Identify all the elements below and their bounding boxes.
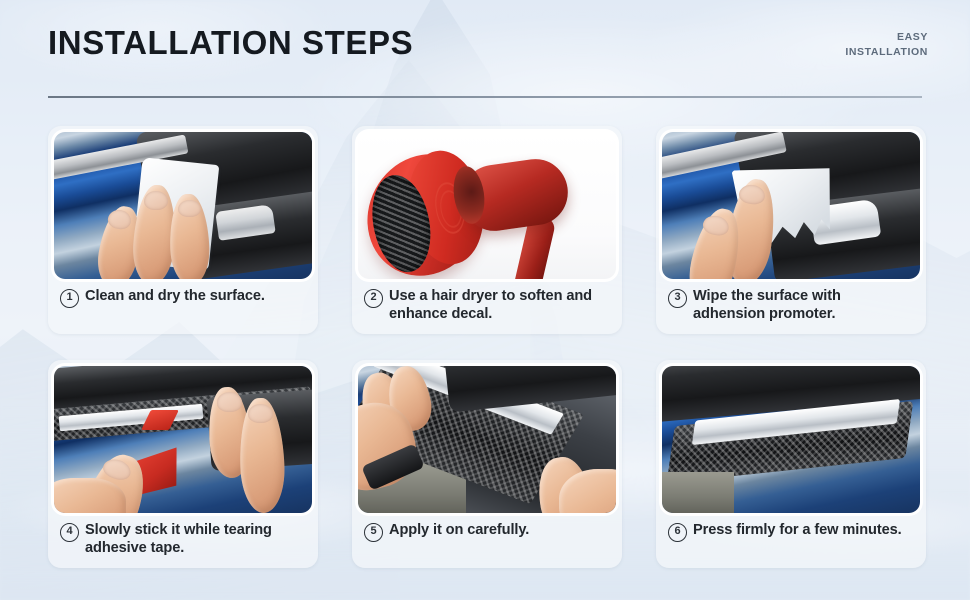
step-3-text: Wipe the surface with adhension promoter… xyxy=(693,287,916,323)
step-1-photo xyxy=(54,132,312,279)
step-2-number: 2 xyxy=(364,289,383,308)
step-card-4: 4 Slowly stick it while tearing adhesive… xyxy=(48,360,318,568)
ground-pavement xyxy=(662,472,734,513)
step-5-text: Apply it on carefully. xyxy=(389,521,529,539)
step-5-scene xyxy=(358,366,616,513)
step-1-caption: 1 Clean and dry the surface. xyxy=(48,279,318,334)
fingernail-right-middle xyxy=(248,404,274,423)
tagline-line-1: EASY xyxy=(845,30,928,45)
step-card-5: 5 Apply it on carefully. xyxy=(352,360,622,568)
tagline: EASY INSTALLATION xyxy=(845,30,928,60)
step-3-caption: 3 Wipe the surface with adhension promot… xyxy=(656,279,926,334)
step-6-scene xyxy=(662,366,920,513)
step-6-caption: 6 Press firmly for a few minutes. xyxy=(656,513,926,568)
step-4-photo xyxy=(54,366,312,513)
step-3-number: 3 xyxy=(668,289,687,308)
step-2-text: Use a hair dryer to soften and enhance d… xyxy=(389,287,612,323)
installation-steps-page: INSTALLATION STEPS EASY INSTALLATION xyxy=(0,0,970,600)
page-title: INSTALLATION STEPS xyxy=(48,24,413,62)
step-card-2: 2 Use a hair dryer to soften and enhance… xyxy=(352,126,622,334)
step-4-scene xyxy=(54,366,312,513)
step-1-scene xyxy=(54,132,312,279)
fingernail-ring xyxy=(178,200,201,218)
step-card-1: 1 Clean and dry the surface. xyxy=(48,126,318,334)
header-divider xyxy=(48,96,922,98)
step-2-scene xyxy=(358,132,616,279)
tagline-line-2: INSTALLATION xyxy=(845,45,928,60)
step-card-3: 3 Wipe the surface with adhension promot… xyxy=(656,126,926,334)
page-header: INSTALLATION STEPS EASY INSTALLATION xyxy=(0,0,970,110)
step-3-photo xyxy=(662,132,920,279)
step-2-photo xyxy=(358,132,616,279)
step-card-6: 6 Press firmly for a few minutes. xyxy=(656,360,926,568)
step-6-text: Press firmly for a few minutes. xyxy=(693,521,902,539)
fingernail-middle xyxy=(144,191,167,210)
fingernail-right-index xyxy=(217,392,243,411)
step-1-number: 1 xyxy=(60,289,79,308)
step-4-number: 4 xyxy=(60,523,79,542)
step-2-caption: 2 Use a hair dryer to soften and enhance… xyxy=(352,279,622,334)
steps-grid: 1 Clean and dry the surface. xyxy=(48,126,926,578)
step-5-caption: 5 Apply it on carefully. xyxy=(352,513,622,568)
step-1-text: Clean and dry the surface. xyxy=(85,287,265,305)
step-5-number: 5 xyxy=(364,523,383,542)
step-6-photo xyxy=(662,366,920,513)
step-4-text: Slowly stick it while tearing adhesive t… xyxy=(85,521,308,557)
step-3-scene xyxy=(662,132,920,279)
step-6-number: 6 xyxy=(668,523,687,542)
step-4-caption: 4 Slowly stick it while tearing adhesive… xyxy=(48,513,318,568)
step-5-photo xyxy=(358,366,616,513)
